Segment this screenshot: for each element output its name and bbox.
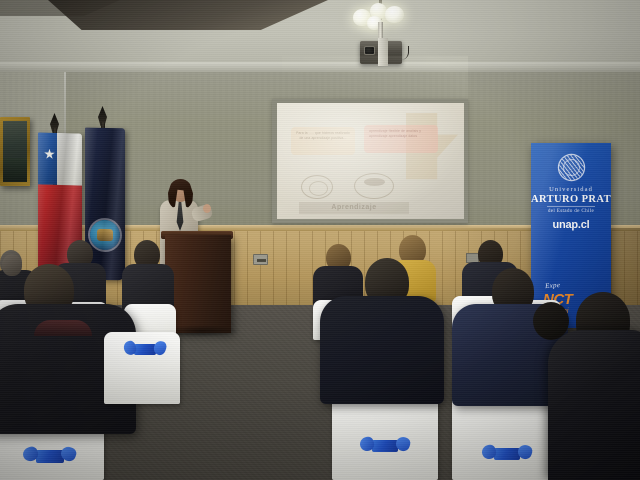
- attendee-jacket: [548, 330, 640, 480]
- projector-mount-plate: [378, 38, 388, 66]
- attendee-jacket: [320, 296, 444, 404]
- painting-canvas: [3, 121, 27, 182]
- wall-power-outlet[interactable]: [253, 254, 268, 265]
- chair-ribbon-bow: [134, 344, 156, 355]
- framed-painting: [0, 117, 30, 186]
- presentation-room-photo: Para la ..... que hicimos realizado de u…: [0, 0, 640, 480]
- chair-ribbon-bow: [494, 448, 520, 460]
- chair-cover: [104, 332, 180, 404]
- chair-ribbon-bow: [372, 440, 398, 452]
- projector-lens: [364, 46, 375, 55]
- screen-glow-overlay: [277, 103, 464, 219]
- attendee-hood-lining: [34, 320, 92, 336]
- presenter-hand: [203, 204, 211, 213]
- attendee-head: [533, 302, 569, 340]
- ceiling-projector: [360, 41, 402, 64]
- attendee-head: [2, 254, 22, 276]
- light-bulb-icon: [385, 6, 404, 23]
- chair-ribbon-bow: [36, 450, 64, 463]
- projection-screen: Para la ..... que hicimos realizado de u…: [277, 103, 464, 219]
- crown-molding: [0, 62, 640, 72]
